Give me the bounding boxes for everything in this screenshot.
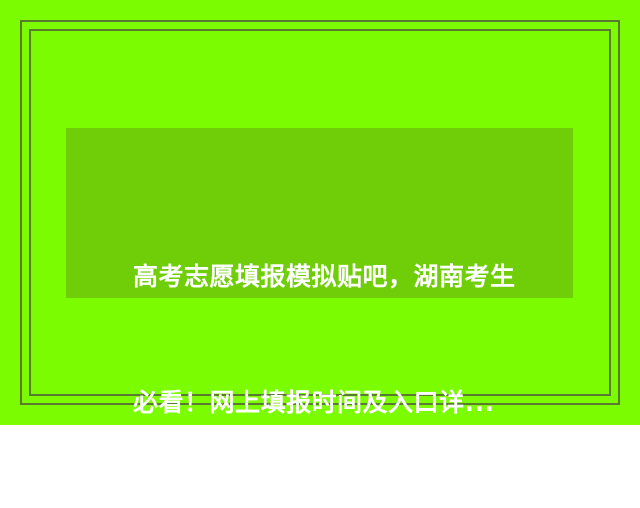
thumbnail-card: 高考志愿填报模拟贴吧，湖南考生 必看！网上填报时间及入口详...	[0, 0, 640, 425]
headline-line-1: 高考志愿填报模拟贴吧，湖南考生	[133, 256, 533, 298]
headline-text: 高考志愿填报模拟贴吧，湖南考生 必看！网上填报时间及入口详...	[133, 172, 533, 508]
headline-line-2: 必看！网上填报时间及入口详...	[133, 382, 533, 424]
